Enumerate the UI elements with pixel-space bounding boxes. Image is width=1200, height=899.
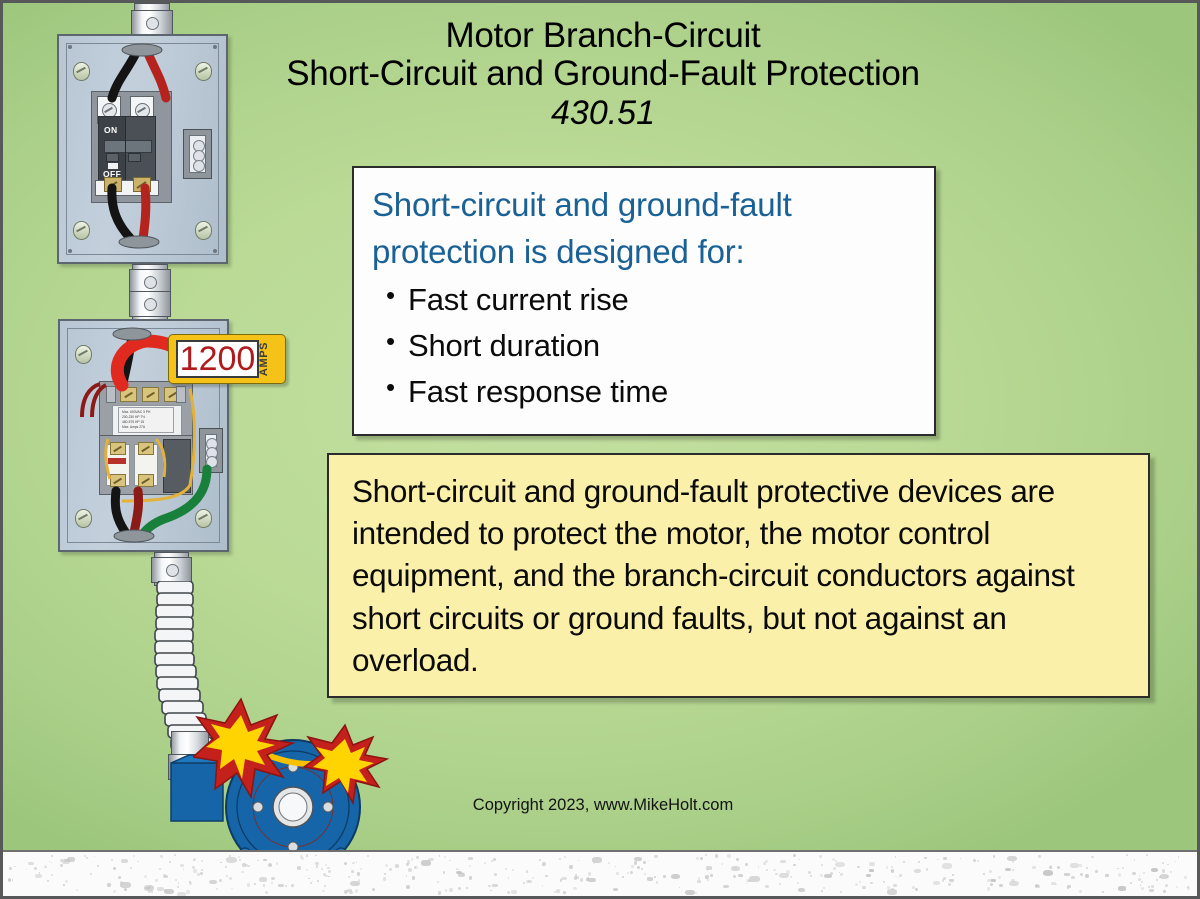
fault-explosion — [193, 693, 423, 843]
callout-bullet-list: Fast current rise Short duration Fast re… — [372, 277, 918, 416]
callout-bullet-2: Short duration — [386, 323, 918, 369]
amps-rating-tag: 1200 AMPS — [168, 334, 286, 384]
callout-box: Short-circuit and ground-fault protectio… — [352, 166, 936, 436]
slide-canvas: Motor Branch-Circuit Short-Circuit and G… — [0, 0, 1200, 899]
conduit-nipple-middle — [132, 264, 168, 322]
breaker-wiring — [59, 36, 230, 266]
concrete-floor — [3, 850, 1197, 896]
conduit-nipple-top — [134, 3, 170, 35]
callout-heading: Short-circuit and ground-fault protectio… — [372, 182, 918, 276]
copyright-text: Copyright 2023, www.MikeHolt.com — [3, 796, 1200, 815]
amps-window: 1200 — [176, 340, 259, 378]
amps-unit-label: AMPS — [258, 342, 270, 376]
note-box: Short-circuit and ground-fault protectiv… — [327, 453, 1150, 698]
amps-value: 1200 — [180, 342, 256, 376]
breaker-enclosure: ON OFF — [57, 34, 228, 264]
note-text: Short-circuit and ground-fault protectiv… — [352, 470, 1134, 681]
callout-bullet-1: Fast current rise — [386, 277, 918, 323]
callout-bullet-3: Fast response time — [386, 369, 918, 415]
